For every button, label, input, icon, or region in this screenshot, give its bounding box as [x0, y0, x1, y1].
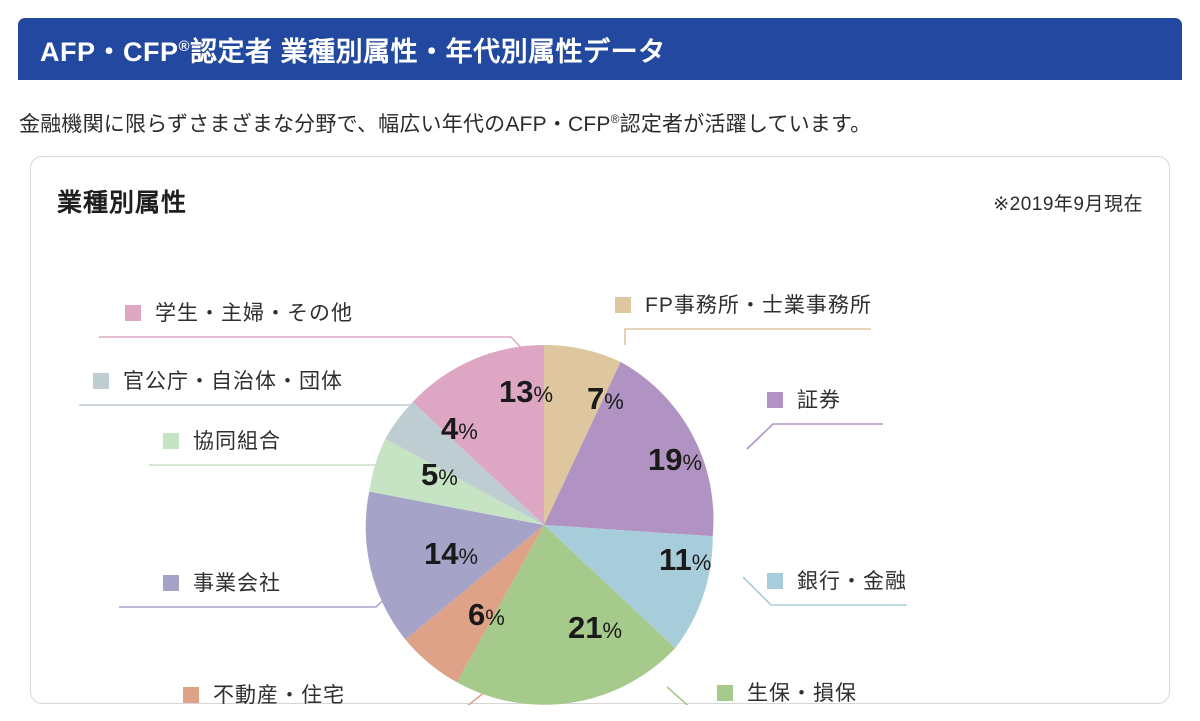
legend-swatch-shoken	[767, 392, 783, 408]
legend-swatch-fp	[615, 297, 631, 313]
legend-item-kankocho[interactable]: 官公庁・自治体・団体	[93, 370, 343, 393]
legend-item-fudosan[interactable]: 不動産・住宅	[183, 684, 345, 705]
page-header-bar: AFP・CFP®認定者 業種別属性・年代別属性データ	[18, 18, 1182, 80]
subtitle-pre: 金融機関に限らずさまざまな分野で、幅広い年代のAFP・CFP	[19, 113, 611, 136]
legend-swatch-fudosan	[183, 687, 199, 703]
legend-swatch-kankocho	[93, 373, 109, 389]
registered-mark-icon: ®	[179, 38, 191, 55]
chart-card-title: 業種別属性	[57, 183, 187, 219]
legend-item-gakusei[interactable]: 学生・主婦・その他	[125, 302, 353, 325]
legend-label-jigyo: 事業会社	[193, 572, 281, 595]
leader-line-shoken	[747, 424, 883, 449]
legend-swatch-gakusei	[125, 305, 141, 321]
legend-label-kankocho: 官公庁・自治体・団体	[123, 370, 343, 393]
legend-label-fudosan: 不動産・住宅	[213, 684, 345, 705]
chart-card-date-note: ※2019年9月現在	[993, 189, 1143, 216]
legend-label-fp: FP事務所・士業事務所	[645, 294, 872, 317]
registered-mark-icon: ®	[611, 112, 620, 126]
legend-label-shoken: 証券	[797, 389, 841, 412]
legend-item-kyodo[interactable]: 協同組合	[163, 430, 281, 453]
subtitle-post: 認定者が活躍しています。	[620, 113, 872, 136]
legend-item-shoken[interactable]: 証券	[767, 389, 841, 412]
pie-chart-area: 7% 19% 11% 21% 6% 14% 5% 4% 13% 学生・主婦・その…	[31, 217, 1171, 705]
legend-label-gakusei: 学生・主婦・その他	[155, 302, 353, 325]
legend-item-jigyo[interactable]: 事業会社	[163, 572, 281, 595]
legend-label-ginko: 銀行・金融	[797, 570, 907, 593]
pie-chart-svg: 7% 19% 11% 21% 6% 14% 5% 4% 13% 学生・主婦・その…	[31, 217, 1171, 705]
legend-item-seiho[interactable]: 生保・損保	[717, 682, 857, 705]
legend-swatch-kyodo	[163, 433, 179, 449]
legend-label-seiho: 生保・損保	[747, 682, 857, 705]
legend-swatch-ginko	[767, 573, 783, 589]
page-title-pre: AFP・CFP	[40, 37, 179, 67]
legend-item-fp[interactable]: FP事務所・士業事務所	[615, 294, 872, 317]
legend-item-ginko[interactable]: 銀行・金融	[767, 570, 907, 593]
page-title-post: 認定者 業種別属性・年代別属性データ	[190, 37, 666, 67]
chart-card: 業種別属性 ※2019年9月現在	[30, 156, 1170, 704]
legend-swatch-seiho	[717, 685, 733, 701]
page-root: AFP・CFP®認定者 業種別属性・年代別属性データ 金融機関に限らずさまざまな…	[0, 0, 1200, 721]
page-subtitle: 金融機関に限らずさまざまな分野で、幅広い年代のAFP・CFP®認定者が活躍してい…	[19, 108, 871, 138]
legend-swatch-jigyo	[163, 575, 179, 591]
page-title: AFP・CFP®認定者 業種別属性・年代別属性データ	[18, 30, 666, 69]
legend-label-kyodo: 協同組合	[193, 430, 281, 453]
leader-line-fp	[625, 329, 871, 345]
